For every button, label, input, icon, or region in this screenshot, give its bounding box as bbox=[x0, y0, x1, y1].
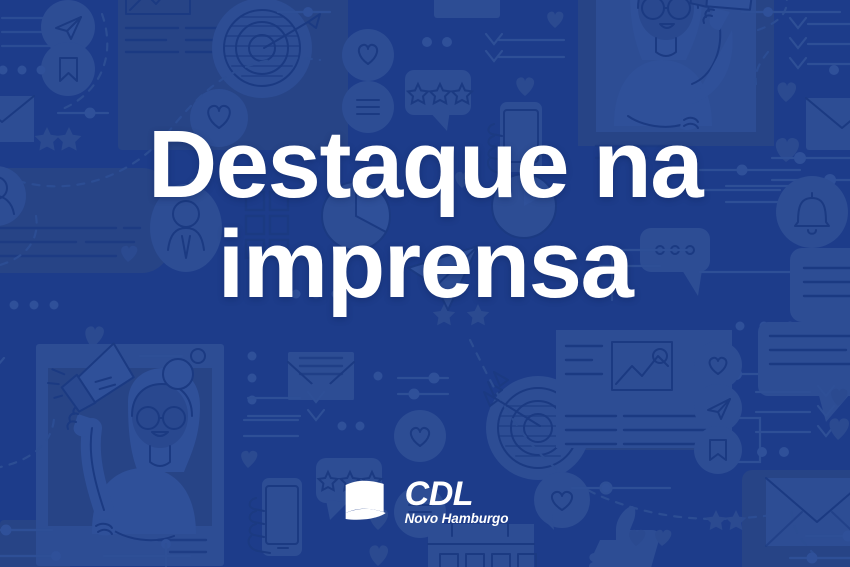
logo-acronym: CDL bbox=[405, 479, 473, 510]
logo-wordmark: CDL Novo Hamburgo bbox=[405, 479, 509, 525]
cdl-page-mark-icon bbox=[342, 479, 398, 525]
logo-subtitle: Novo Hamburgo bbox=[405, 512, 509, 526]
press-highlight-banner: .fl { fill:#2d4d94; } .fl2 { fill:#2a489… bbox=[0, 0, 850, 567]
cdl-novo-hamburgo-logo: CDL Novo Hamburgo bbox=[342, 479, 509, 525]
